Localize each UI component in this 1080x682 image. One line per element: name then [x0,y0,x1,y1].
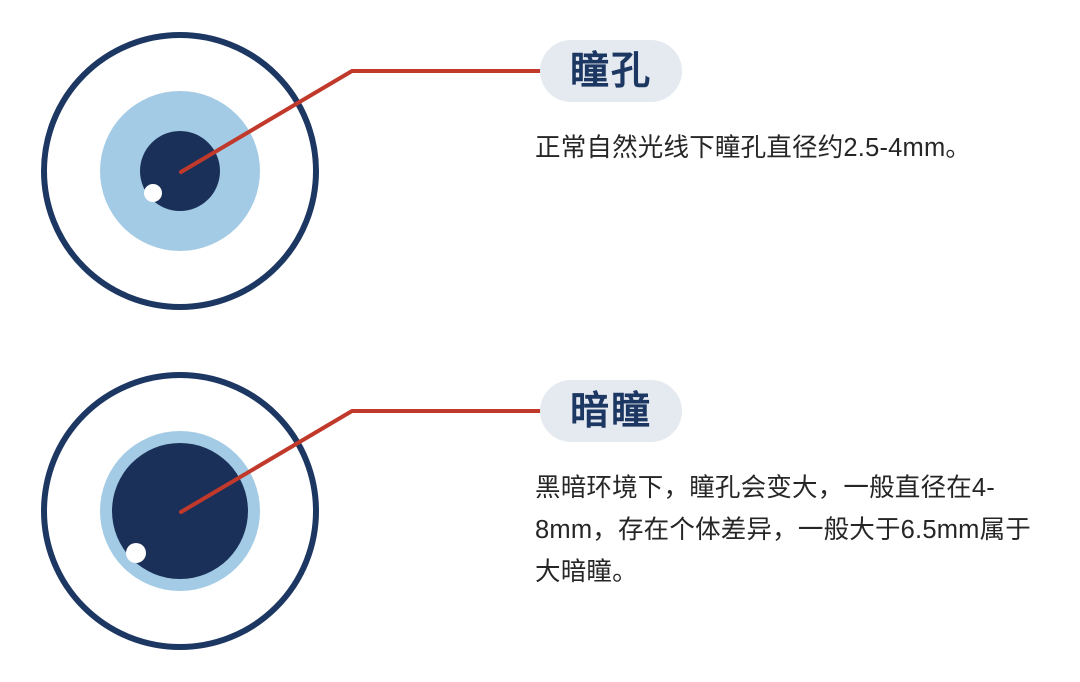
sclera-outer-ring [44,35,316,307]
label-pill-text: 瞳孔 [570,52,652,91]
pupil-circle [112,443,248,579]
normal-pupil-eye-diagram [44,35,316,307]
pupil-highlight-dot [144,184,162,202]
label-pill-text: 暗瞳 [570,392,652,431]
description-normal-pupil: 正常自然光线下瞳孔直径约2.5-4mm。 [535,127,1055,169]
iris-circle [100,431,260,591]
dark-pupil-connector-line [181,411,545,512]
normal-pupil-connector-line [181,71,545,172]
iris-circle [100,91,260,251]
infographic-canvas: 瞳孔 正常自然光线下瞳孔直径约2.5-4mm。 暗瞳 黑暗环境下，瞳孔会变大，一… [0,0,1080,682]
label-pill-normal-pupil: 瞳孔 [540,40,682,102]
sclera-outer-ring [44,375,316,647]
description-dark-pupil: 黑暗环境下，瞳孔会变大，一般直径在4-8mm，存在个体差异，一般大于6.5mm属… [535,467,1045,593]
dark-pupil-eye-diagram [44,375,316,647]
label-pill-dark-pupil: 暗瞳 [540,380,682,442]
pupil-circle [140,131,220,211]
pupil-highlight-dot [126,543,146,563]
